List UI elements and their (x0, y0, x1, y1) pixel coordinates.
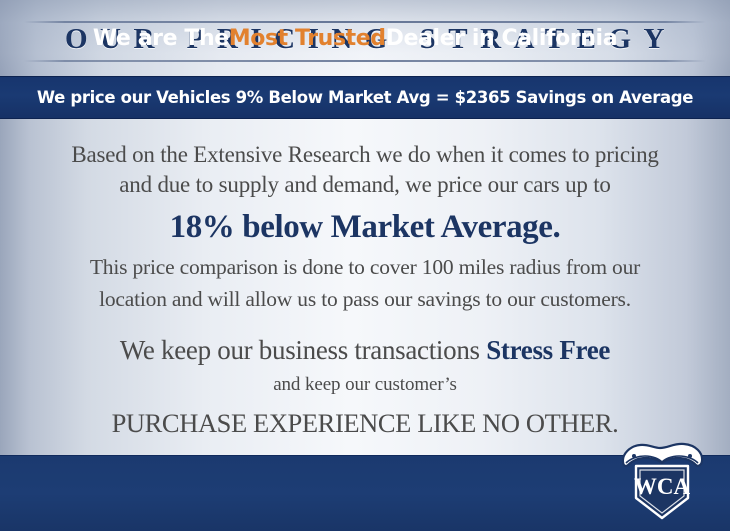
wca-bear-shield-logo: WCA (612, 432, 712, 528)
wca-logo-svg: WCA (612, 432, 712, 528)
bear-icon (623, 444, 702, 466)
savings-banner-text: We price our Vehicles 9% Below Market Av… (37, 88, 693, 107)
stress-free-line: We keep our business transactions Stress… (15, 328, 715, 372)
body-content: Based on the Extensive Research we do wh… (0, 119, 730, 455)
footer-tagline: We are The Most Trusted Dealer in Califo… (0, 0, 730, 76)
footer-suffix: Dealer in California (386, 26, 618, 51)
pricing-strategy-card: OUR PRICING STRATEGY We price our Vehicl… (0, 0, 730, 531)
headline-percent: 18% below Market Average. (15, 204, 715, 250)
intro-line-2: and due to supply and demand, we price o… (15, 170, 715, 200)
purchase-experience-line: PURCHASE EXPERIENCE LIKE NO OTHER. (15, 404, 715, 442)
stress-free-prefix: We keep our business transactions (120, 335, 486, 365)
intro-line-1: Based on the Extensive Research we do wh… (15, 140, 715, 170)
savings-banner: We price our Vehicles 9% Below Market Av… (0, 76, 730, 119)
footer-prefix: We are The (93, 26, 229, 51)
comparison-line-1: This price comparison is done to cover 1… (15, 253, 715, 282)
comparison-line-2: location and will allow us to pass our s… (15, 285, 715, 314)
customer-line: and keep our customer’s (15, 372, 715, 398)
stress-free-highlight: Stress Free (486, 335, 610, 365)
logo-wordmark: WCA (634, 474, 691, 499)
footer-highlight: Most Trusted (229, 26, 386, 51)
